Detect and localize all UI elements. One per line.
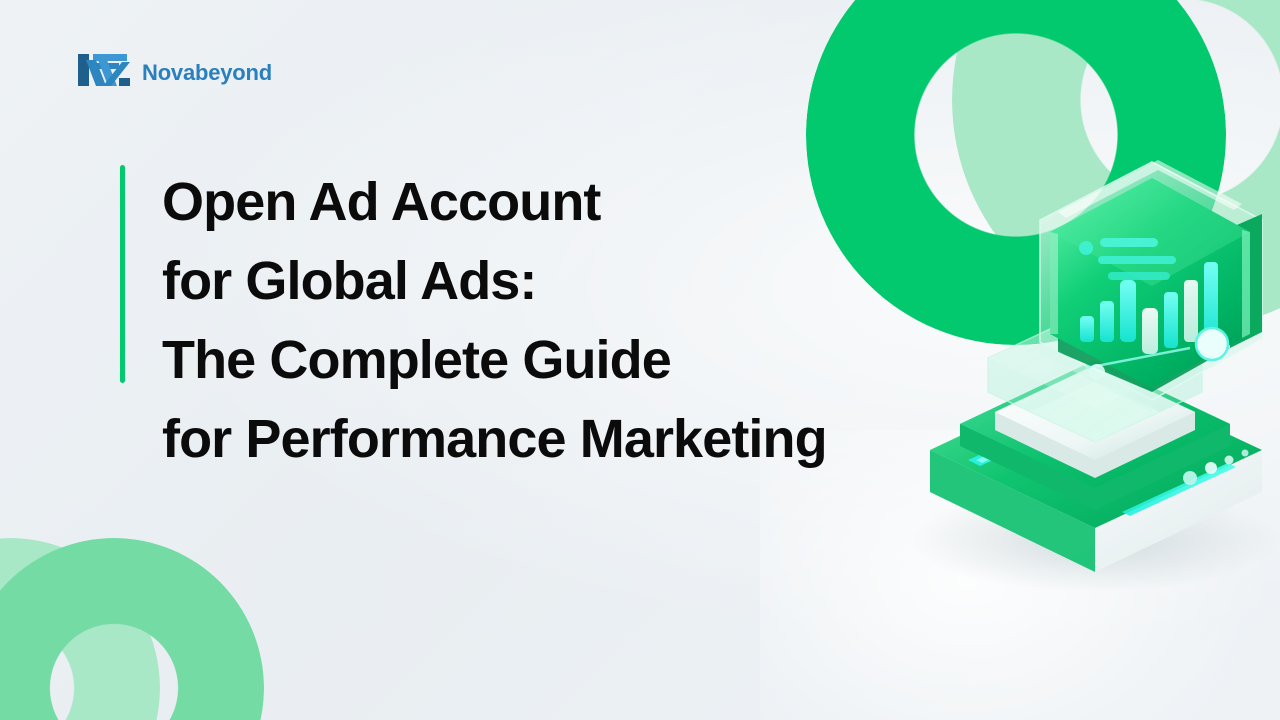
headline-line-4: for Performance Marketing xyxy=(162,400,827,479)
headline-line-3: The Complete Guide xyxy=(162,321,827,400)
page-title: Open Ad Account for Global Ads: The Comp… xyxy=(125,163,827,479)
decorative-ring-mint-bottom-left-2 xyxy=(0,538,264,720)
brand-logo[interactable]: Novabeyond xyxy=(78,50,272,95)
decorative-ring-mint-bottom-left xyxy=(0,538,160,720)
headline-line-1: Open Ad Account xyxy=(162,163,827,242)
headline-block: Open Ad Account for Global Ads: The Comp… xyxy=(120,163,827,479)
hero-illustration xyxy=(890,120,1280,590)
brand-wordmark: Novabeyond xyxy=(142,62,272,84)
blog-cover-canvas: Novabeyond Open Ad Account for Global Ad… xyxy=(0,0,1280,720)
novabeyond-w-mark-icon xyxy=(78,50,130,95)
headline-line-2: for Global Ads: xyxy=(162,242,827,321)
